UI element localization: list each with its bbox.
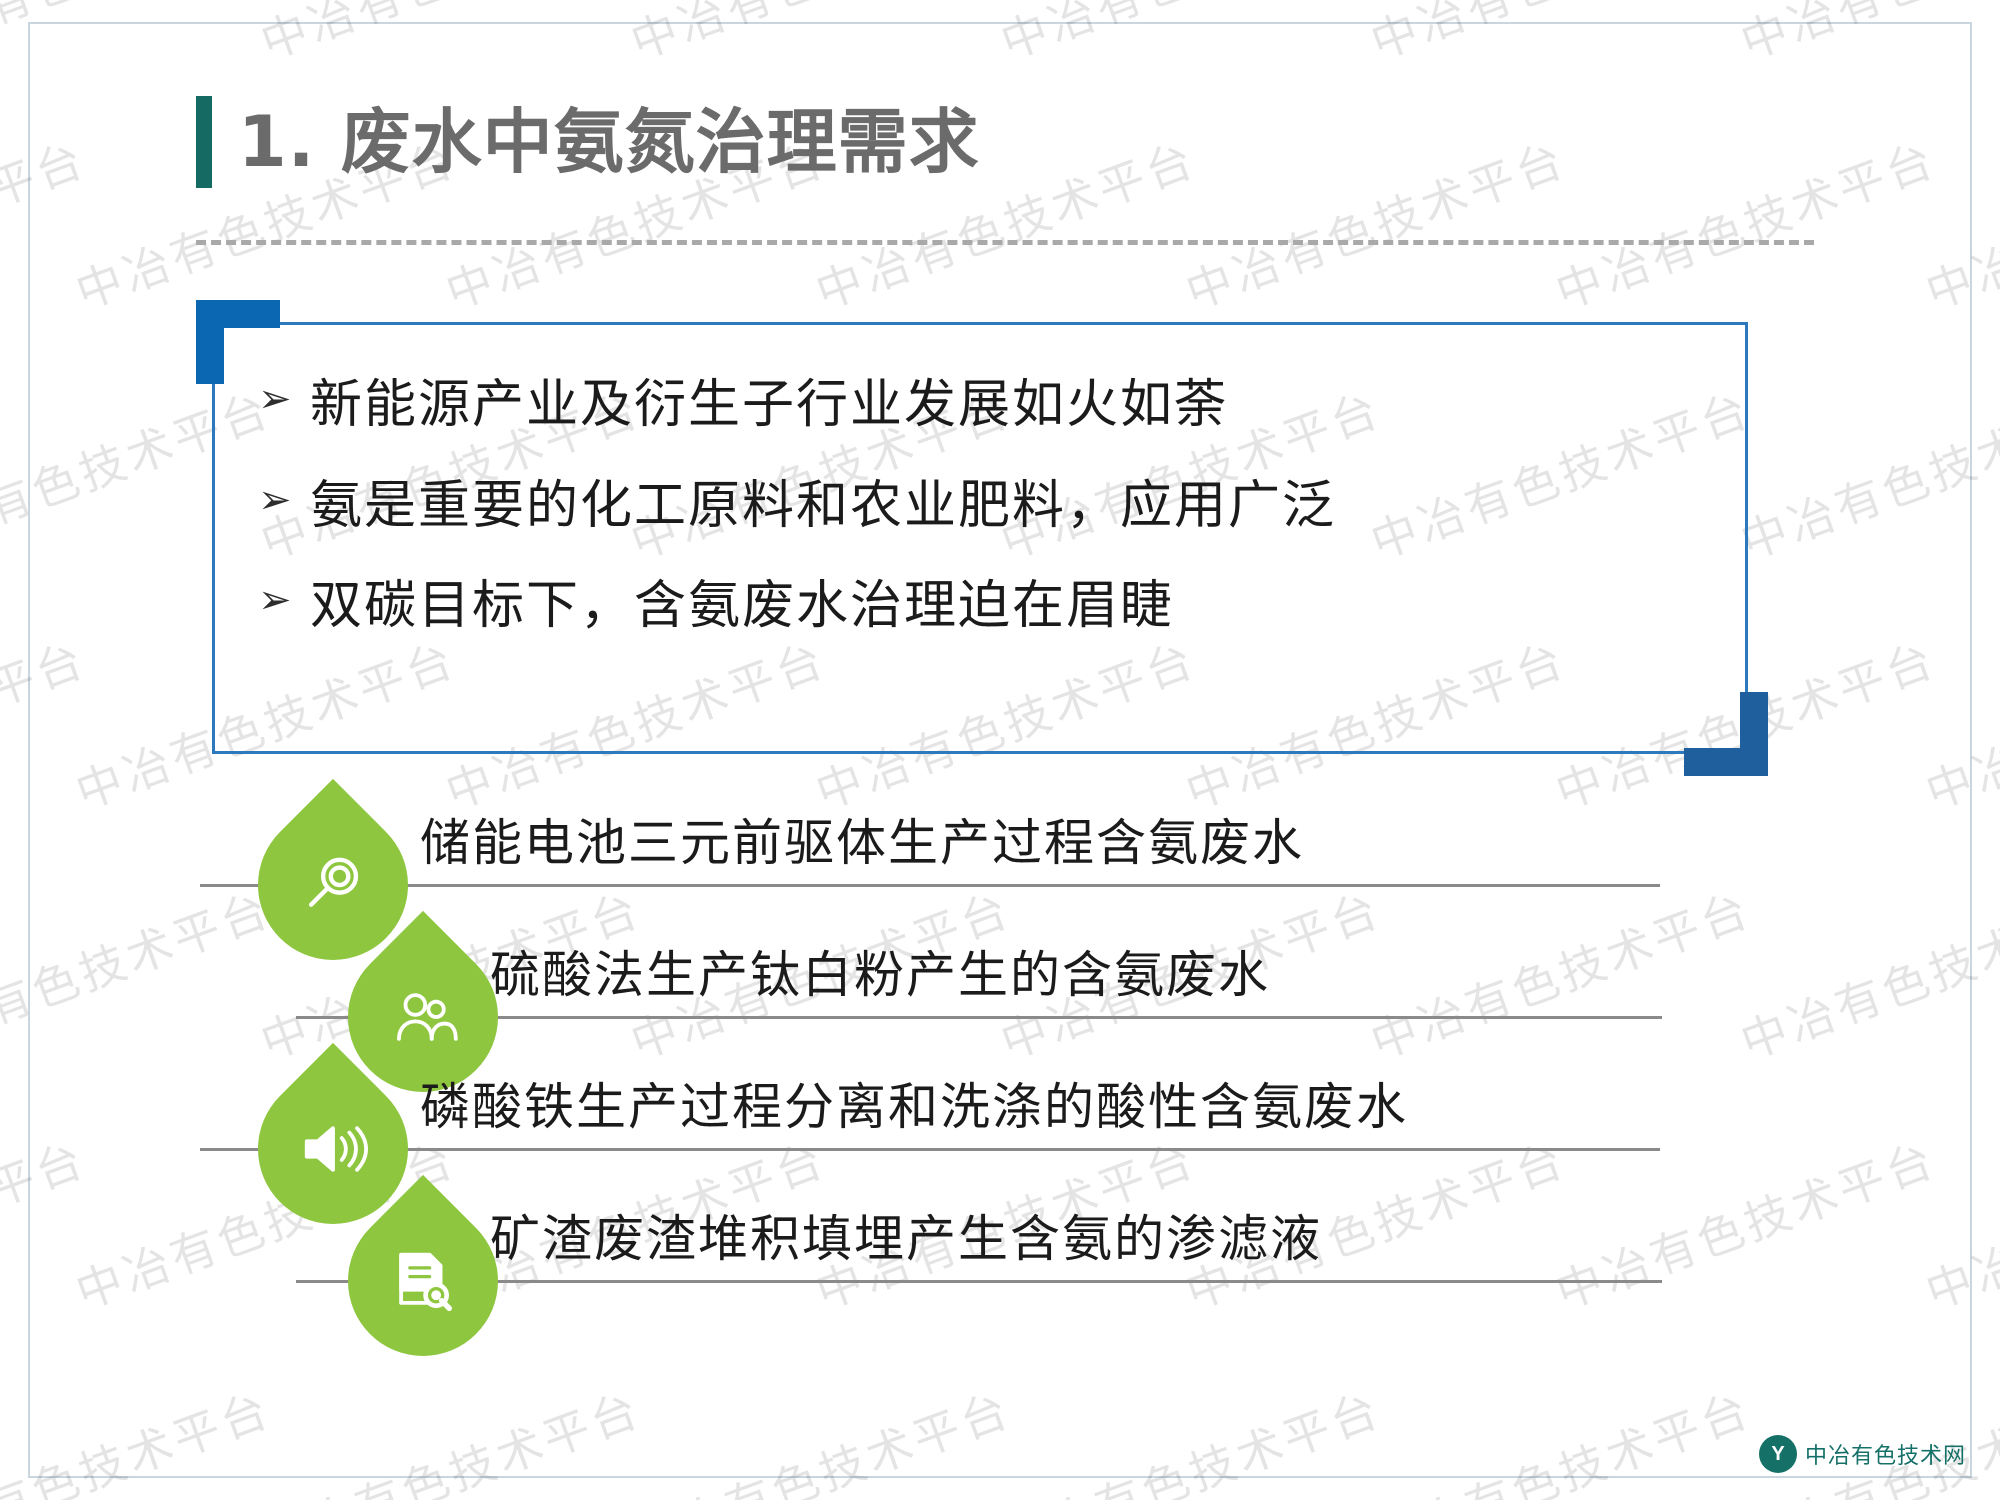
document-search-icon xyxy=(317,1175,529,1387)
slide-canvas: 1. 废水中氨氮治理需求 ➢ 新能源产业及衍生子行业发展如火如荼 ➢ 氨是重要的… xyxy=(0,0,2000,1500)
source-label: 磷酸铁生产过程分离和洗涤的酸性含氨废水 xyxy=(420,1076,1408,1139)
bullet-text: 新能源产业及衍生子行业发展如火如荼 xyxy=(310,372,1228,439)
source-label: 储能电池三元前驱体生产过程含氨废水 xyxy=(420,812,1304,875)
watermark-text: 中冶有色技术平台 xyxy=(1731,0,2000,72)
bullet-list: ➢ 新能源产业及衍生子行业发展如火如荼 ➢ 氨是重要的化工原料和农业肥料，应用广… xyxy=(258,372,1678,640)
watermark-text: 中冶有色技术平台 xyxy=(0,124,94,323)
arrow-bullet-icon: ➢ xyxy=(258,372,310,425)
watermark-text: 中冶有色技术平台 xyxy=(1916,1124,2000,1323)
arrow-bullet-icon: ➢ xyxy=(258,573,310,626)
source-list: 储能电池三元前驱体生产过程含氨废水 硫酸法生产钛白粉产生的含氨废水 xyxy=(200,810,1800,1390)
row-divider xyxy=(296,1280,1662,1283)
watermark-text: 中冶有色技术平台 xyxy=(0,0,279,72)
bullet-text: 双碳目标下，含氨废水治理迫在眉睫 xyxy=(310,573,1174,640)
watermark-text: 中冶有色技术平台 xyxy=(1176,124,1574,323)
watermark-text: 中冶有色技术平台 xyxy=(1916,624,2000,823)
watermark-text: 中冶有色技术平台 xyxy=(1546,124,1944,323)
watermark-text: 中冶有色技术平台 xyxy=(991,1374,1389,1500)
slide-title-row: 1. 废水中氨氮治理需求 xyxy=(196,96,980,188)
watermark-text: 中冶有色技术平台 xyxy=(0,1374,279,1500)
list-item: 硫酸法生产钛白粉产生的含氨废水 xyxy=(200,942,1800,1092)
watermark-text: 中冶有色技术平台 xyxy=(1916,124,2000,323)
watermark-text: 中冶有色技术平台 xyxy=(251,1374,649,1500)
watermark-text: 中冶有色技术平台 xyxy=(1731,374,2000,573)
logo-mark-icon: Y xyxy=(1759,1435,1797,1473)
logo-text: 中冶有色技术网 xyxy=(1805,1438,1966,1470)
title-divider xyxy=(196,240,1814,245)
bullet-text: 氨是重要的化工原料和农业肥料，应用广泛 xyxy=(310,473,1336,540)
row-divider xyxy=(296,1016,1662,1019)
watermark-text: 中冶有色技术平台 xyxy=(991,0,1389,72)
watermark-text: 中冶有色技术平台 xyxy=(251,0,649,72)
watermark-text: 中冶有色技术平台 xyxy=(1361,1374,1759,1500)
page-title: 1. 废水中氨氮治理需求 xyxy=(238,107,980,177)
source-label: 硫酸法生产钛白粉产生的含氨废水 xyxy=(490,944,1270,1007)
footer-logo: Y 中冶有色技术网 xyxy=(1759,1434,1966,1474)
row-divider xyxy=(200,1148,1660,1151)
watermark-text: 中冶有色技术平台 xyxy=(1361,0,1759,72)
list-item: ➢ 双碳目标下，含氨废水治理迫在眉睫 xyxy=(258,573,1678,640)
title-accent-bar xyxy=(196,96,212,188)
arrow-bullet-icon: ➢ xyxy=(258,473,310,526)
list-item: ➢ 氨是重要的化工原料和农业肥料，应用广泛 xyxy=(258,473,1678,540)
source-label: 矿渣废渣堆积填埋产生含氨的渗滤液 xyxy=(490,1208,1322,1271)
logo-letter: Y xyxy=(1771,1444,1784,1464)
panel-corner-bottom-right xyxy=(1684,692,1768,776)
list-item: 矿渣废渣堆积填埋产生含氨的渗滤液 xyxy=(200,1206,1800,1356)
list-item: ➢ 新能源产业及衍生子行业发展如火如荼 xyxy=(258,372,1678,439)
row-divider xyxy=(200,884,1660,887)
watermark-text: 中冶有色技术平台 xyxy=(0,1124,94,1323)
watermark-text: 中冶有色技术平台 xyxy=(0,624,94,823)
watermark-text: 中冶有色技术平台 xyxy=(621,1374,1019,1500)
watermark-text: 中冶有色技术平台 xyxy=(621,0,1019,72)
